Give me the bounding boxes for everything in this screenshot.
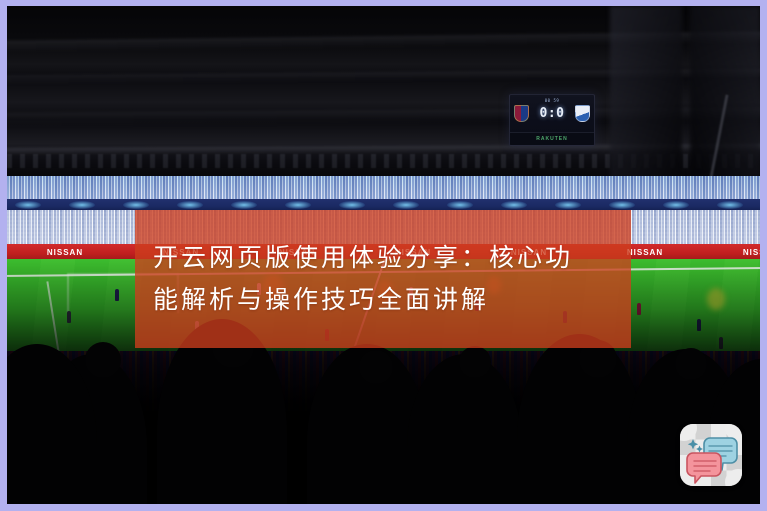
page-frame: 00 59 0:0 RAKUTEN NISSANNISSANNISSANNISS… — [0, 0, 767, 511]
led-graphic — [123, 201, 149, 209]
led-graphic — [555, 201, 581, 209]
led-graphic — [717, 201, 743, 209]
chat-bubbles-glyph — [680, 424, 742, 486]
title-line-2: 能解析与操作技巧全面讲解 — [153, 279, 617, 321]
led-graphic — [69, 201, 95, 209]
away-crest-icon — [575, 105, 590, 122]
chat-bubbles-icon[interactable] — [680, 424, 742, 486]
roof-pillar — [690, 6, 760, 178]
led-graphic — [663, 201, 689, 209]
scoreboard-clock: 00 59 — [545, 98, 560, 103]
led-graphic — [393, 201, 419, 209]
led-graphic — [15, 201, 41, 209]
led-graphic — [231, 201, 257, 209]
scoreboard: 00 59 0:0 RAKUTEN — [509, 94, 595, 146]
sparkle-icon — [688, 439, 703, 453]
spectator-head — [85, 342, 121, 378]
scoreboard-footer: RAKUTEN — [510, 132, 594, 145]
scoreboard-sponsor: RAKUTEN — [536, 136, 567, 142]
spectator-silhouette — [407, 354, 522, 504]
spectator-head — [459, 346, 491, 378]
spectator-head — [675, 348, 707, 380]
cover-photo: 00 59 0:0 RAKUTEN NISSANNISSANNISSANNISS… — [7, 6, 760, 504]
title-line-1: 开云网页版使用体验分享：核心功 — [153, 237, 617, 279]
roof-pillar — [610, 6, 682, 178]
stadium-roof — [7, 6, 760, 178]
scoreboard-score: 0:0 — [540, 106, 565, 121]
led-graphic — [339, 201, 365, 209]
spectator-head — [359, 350, 393, 384]
led-graphic — [501, 201, 527, 209]
home-crest-icon — [514, 105, 529, 122]
led-graphic — [447, 201, 473, 209]
led-graphic — [177, 201, 203, 209]
title-overlay: 开云网页版使用体验分享：核心功 能解析与操作技巧全面讲解 — [135, 210, 631, 348]
led-graphic — [285, 201, 311, 209]
crowd-highlight — [707, 288, 725, 310]
led-graphic — [609, 201, 635, 209]
